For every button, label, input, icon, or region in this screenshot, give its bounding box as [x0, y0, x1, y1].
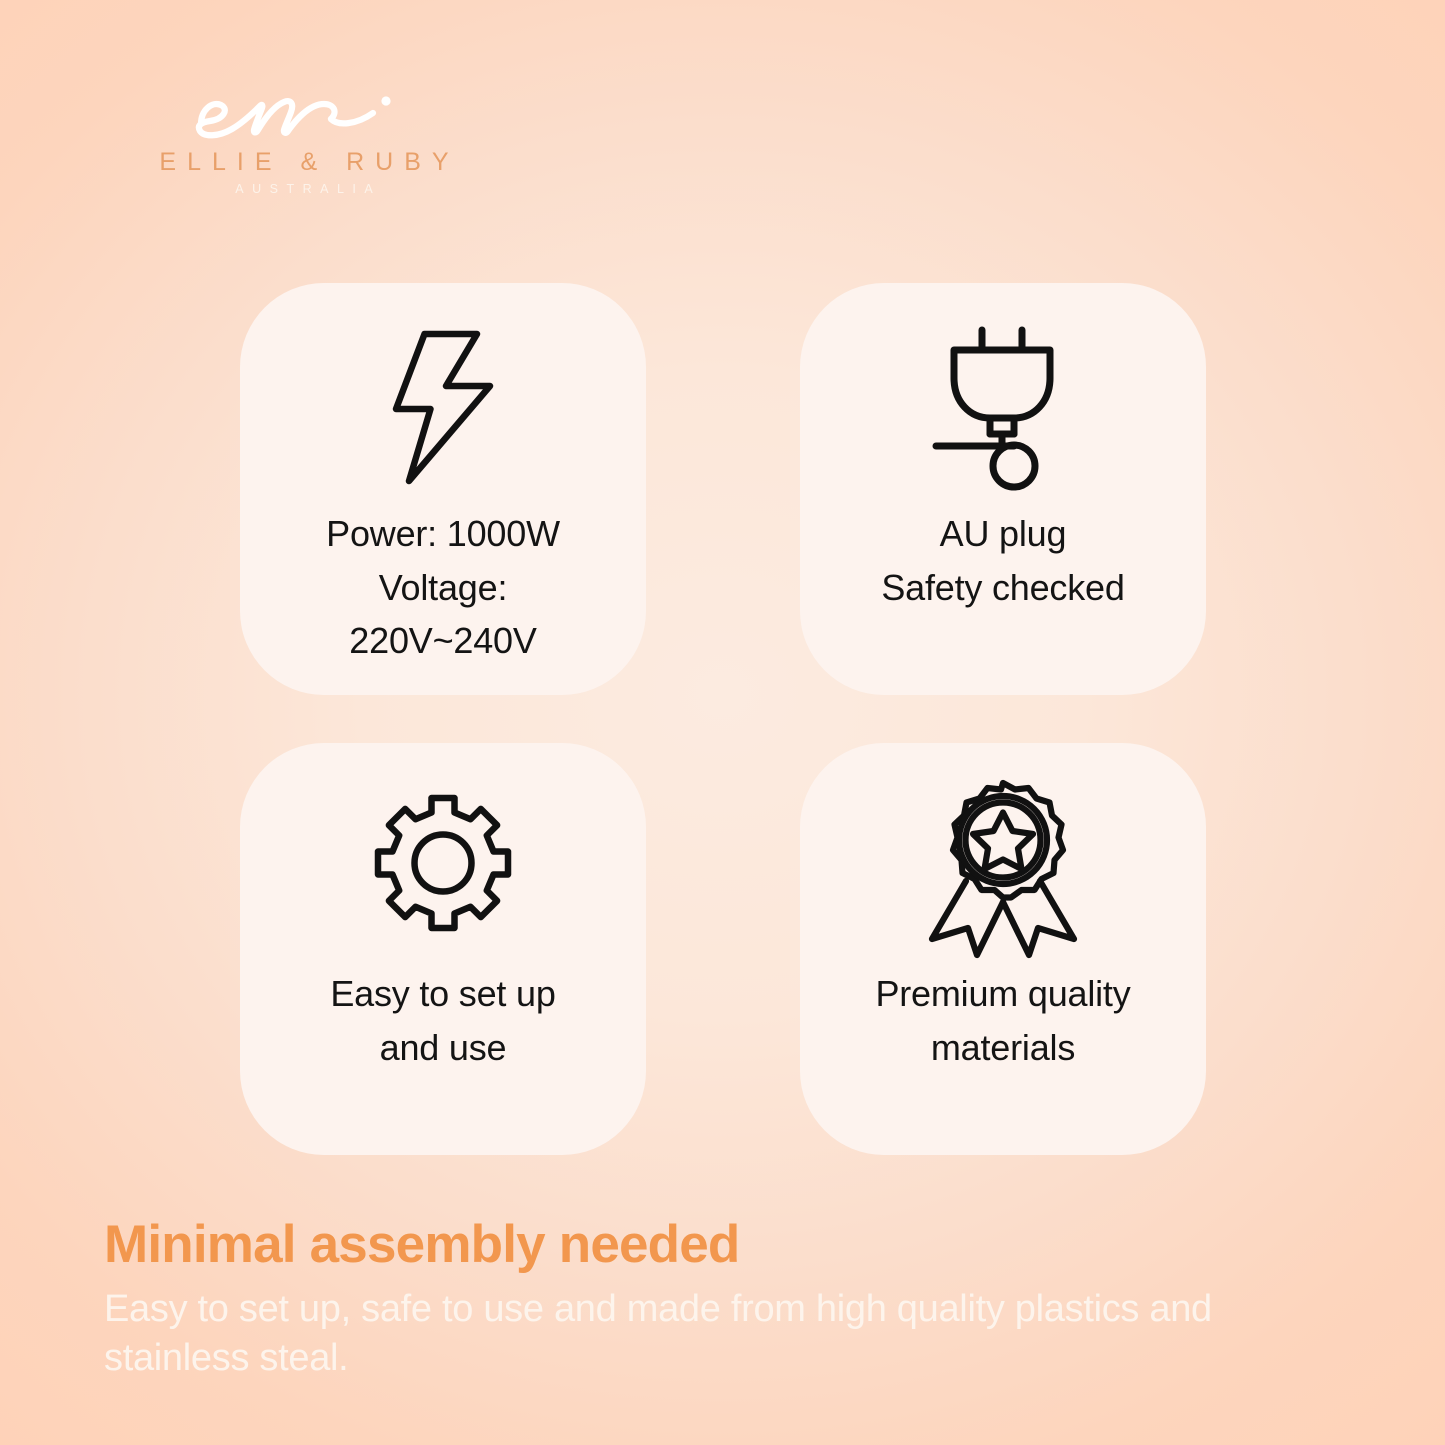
feature-card-plug: AU plug Safety checked: [800, 283, 1206, 695]
brand-name: ELLIE & RUBY: [124, 148, 484, 177]
feature-label: AU plug Safety checked: [863, 507, 1142, 614]
power-plug-icon: [928, 315, 1078, 501]
bottom-heading: Minimal assembly needed: [104, 1216, 1304, 1273]
er-script-mark-icon: [188, 88, 420, 146]
feature-card-grid: Power: 1000W Voltage: 220V~240V: [240, 283, 1206, 1155]
gear-icon: [368, 775, 518, 961]
bottom-copy-block: Minimal assembly needed Easy to set up, …: [104, 1216, 1304, 1383]
feature-label: Easy to set up and use: [312, 967, 573, 1074]
feature-card-setup: Easy to set up and use: [240, 743, 646, 1155]
feature-card-quality: Premium quality materials: [800, 743, 1206, 1155]
feature-label: Premium quality materials: [857, 967, 1148, 1074]
brand-logo: ELLIE & RUBY AUSTRALIA: [124, 88, 484, 198]
feature-card-power: Power: 1000W Voltage: 220V~240V: [240, 283, 646, 695]
brand-region: AUSTRALIA: [124, 182, 484, 196]
lightning-bolt-icon: [384, 315, 502, 501]
bottom-body-text: Easy to set up, safe to use and made fro…: [104, 1285, 1214, 1383]
award-ribbon-icon: [922, 775, 1084, 961]
feature-label: Power: 1000W Voltage: 220V~240V: [308, 507, 578, 668]
product-feature-graphic: ELLIE & RUBY AUSTRALIA Power: 1000W Volt…: [0, 0, 1445, 1445]
